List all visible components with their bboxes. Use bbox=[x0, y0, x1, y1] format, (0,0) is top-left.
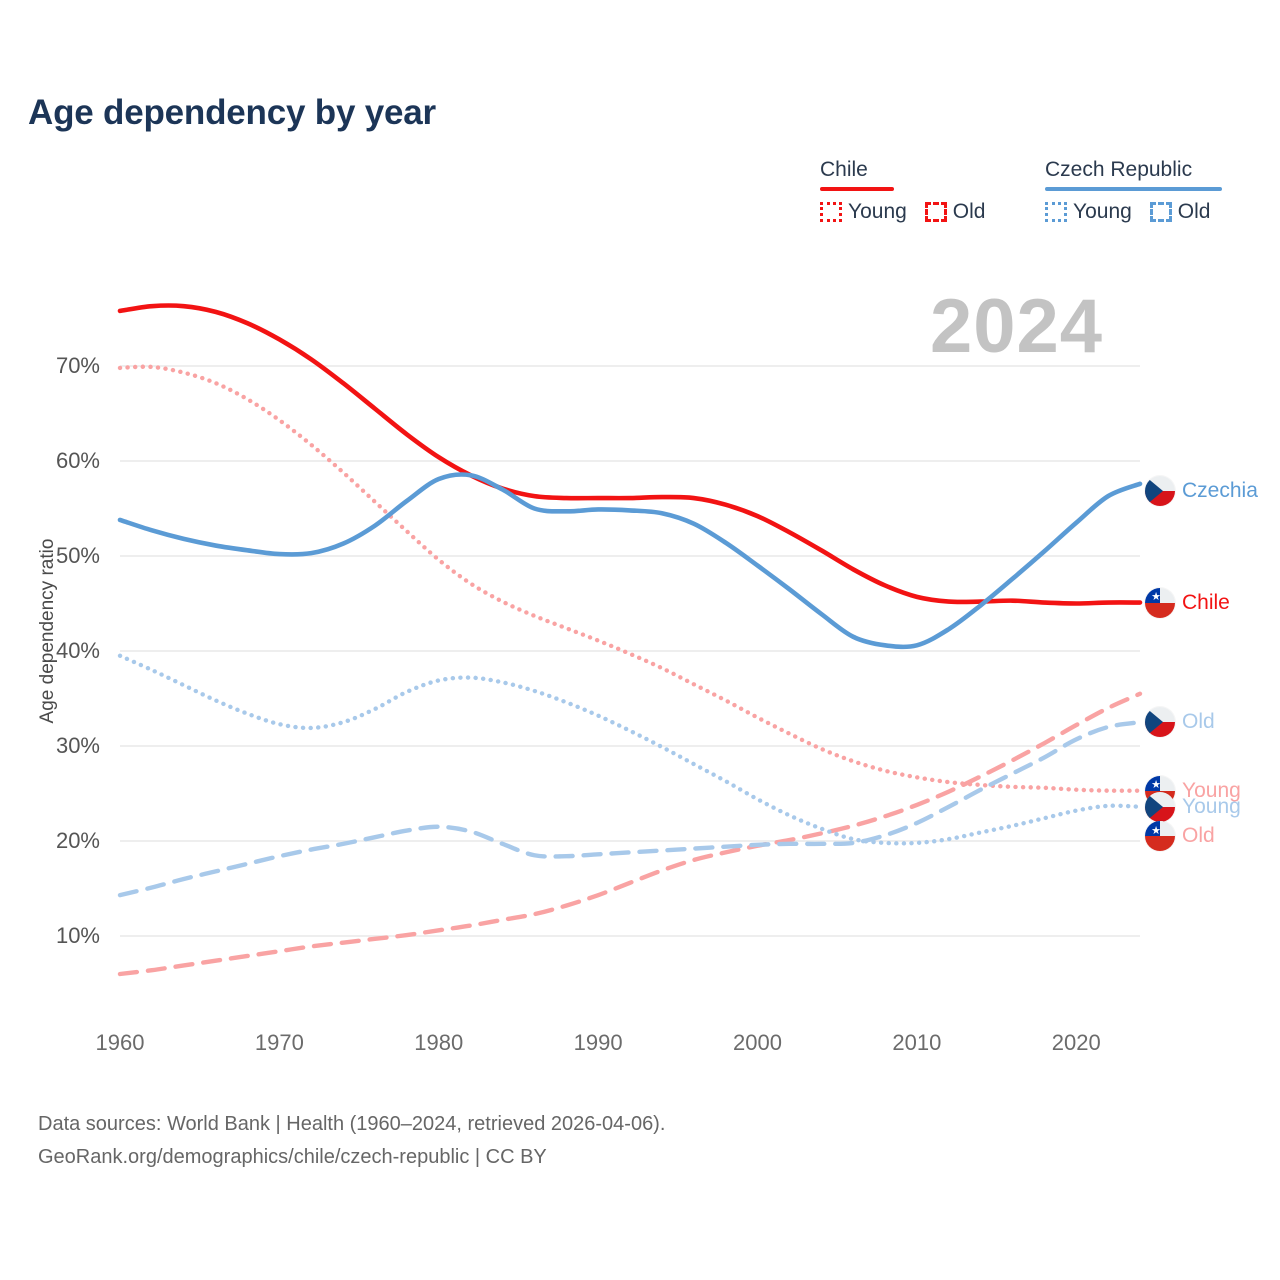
czech-flag-icon bbox=[1145, 792, 1175, 822]
series-end-label[interactable]: Czechia bbox=[1145, 476, 1258, 506]
y-axis-tick-label: 70% bbox=[30, 353, 100, 379]
x-axis-tick-label: 1980 bbox=[414, 1030, 463, 1056]
young-swatch-icon bbox=[820, 202, 842, 222]
series-line bbox=[120, 656, 1140, 844]
young-swatch-icon bbox=[1045, 202, 1067, 222]
series-end-label[interactable]: Old bbox=[1145, 707, 1215, 737]
x-axis-tick-label: 1990 bbox=[574, 1030, 623, 1056]
legend-country-rule bbox=[1045, 187, 1222, 191]
y-axis-tick-label: 20% bbox=[30, 828, 100, 854]
chile-flag-icon: ★ bbox=[1145, 821, 1175, 851]
y-axis-tick-label: 60% bbox=[30, 448, 100, 474]
legend-item-label: Young bbox=[848, 200, 907, 224]
legend-item-chile-old[interactable]: Old bbox=[925, 200, 986, 224]
legend-item-label: Young bbox=[1073, 200, 1132, 224]
x-axis-tick-label: 1960 bbox=[96, 1030, 145, 1056]
legend-item-czech-young[interactable]: Young bbox=[1045, 200, 1132, 224]
page-title: Age dependency by year bbox=[28, 93, 436, 133]
series-end-label-text: Chile bbox=[1182, 591, 1230, 615]
czech-flag-icon bbox=[1145, 707, 1175, 737]
series-line bbox=[120, 694, 1140, 974]
legend-group-czech-republic: Czech Republic Young Old bbox=[1045, 158, 1222, 224]
series-line bbox=[120, 722, 1140, 895]
x-axis-tick-label: 2000 bbox=[733, 1030, 782, 1056]
series-end-label-text: Old bbox=[1182, 710, 1215, 734]
series-end-label-text: Young bbox=[1182, 795, 1241, 819]
legend-item-czech-old[interactable]: Old bbox=[1150, 200, 1211, 224]
x-axis-tick-label: 2020 bbox=[1052, 1030, 1101, 1056]
legend-item-chile-young[interactable]: Young bbox=[820, 200, 907, 224]
y-axis-tick-label: 10% bbox=[30, 923, 100, 949]
old-swatch-icon bbox=[925, 202, 947, 222]
series-end-label-text: Czechia bbox=[1182, 479, 1258, 503]
old-swatch-icon bbox=[1150, 202, 1172, 222]
footer-attribution: GeoRank.org/demographics/chile/czech-rep… bbox=[38, 1141, 665, 1174]
legend-country-label: Chile bbox=[820, 158, 985, 185]
chile-flag-icon: ★ bbox=[1145, 588, 1175, 618]
x-axis-tick-label: 2010 bbox=[892, 1030, 941, 1056]
series-end-label[interactable]: ★Old bbox=[1145, 821, 1215, 851]
legend-item-label: Old bbox=[1178, 200, 1211, 224]
series-end-label[interactable]: Young bbox=[1145, 792, 1241, 822]
legend-country-rule bbox=[820, 187, 894, 191]
legend: Chile Young Old Czech Republic Young bbox=[790, 158, 1250, 238]
y-axis-tick-label: 50% bbox=[30, 543, 100, 569]
legend-country-label: Czech Republic bbox=[1045, 158, 1222, 185]
legend-group-chile: Chile Young Old bbox=[820, 158, 985, 224]
series-end-label-text: Old bbox=[1182, 824, 1215, 848]
series-line bbox=[120, 474, 1140, 646]
footer: Data sources: World Bank | Health (1960–… bbox=[38, 1108, 665, 1174]
x-axis-tick-label: 1970 bbox=[255, 1030, 304, 1056]
y-axis-tick-label: 40% bbox=[30, 638, 100, 664]
series-line bbox=[120, 367, 1140, 791]
legend-item-label: Old bbox=[953, 200, 986, 224]
czech-flag-icon bbox=[1145, 476, 1175, 506]
year-watermark: 2024 bbox=[930, 289, 1103, 365]
series-end-label[interactable]: ★Chile bbox=[1145, 588, 1230, 618]
y-axis-tick-label: 30% bbox=[30, 733, 100, 759]
chart-root: Age dependency by year Chile Young Old C… bbox=[0, 0, 1280, 1280]
footer-data-sources: Data sources: World Bank | Health (1960–… bbox=[38, 1108, 665, 1141]
